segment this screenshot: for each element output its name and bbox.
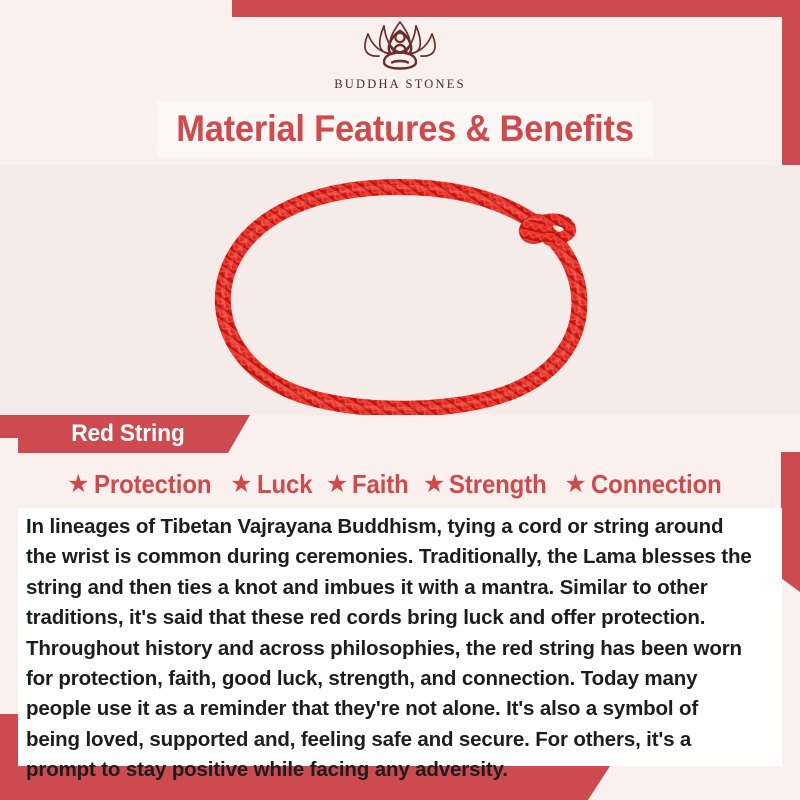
material-ribbon: Red String (18, 415, 250, 453)
brand-logo: BUDDHA STONES (0, 17, 800, 101)
benefits-row: ★ Protection ★ Luck ★ Faith ★ Strength ★… (0, 462, 800, 507)
star-icon: ★ (564, 472, 586, 497)
benefit-item: ★ Protection (67, 469, 221, 500)
star-icon: ★ (230, 472, 252, 497)
brand-wordmark: BUDDHA STONES (334, 77, 466, 92)
benefit-item: ★ Faith (326, 469, 414, 500)
benefit-label: Faith (352, 469, 409, 500)
description-panel: In lineages of Tibetan Vajrayana Buddhis… (18, 508, 782, 766)
hero-band (0, 165, 800, 415)
material-name: Red String (18, 420, 185, 448)
star-icon: ★ (423, 472, 445, 497)
benefit-item: ★ Connection (564, 469, 732, 500)
benefit-item: ★ Strength (423, 469, 556, 500)
product-bracelet-image (0, 165, 800, 415)
benefit-item: ★ Luck (230, 469, 317, 500)
poster-root: BUDDHA STONES Material Features & Benefi… (0, 0, 800, 800)
description-text: In lineages of Tibetan Vajrayana Buddhis… (18, 512, 782, 786)
star-icon: ★ (326, 472, 348, 497)
benefit-label: Protection (94, 469, 211, 500)
star-icon: ★ (67, 472, 89, 497)
benefit-label: Luck (257, 469, 312, 500)
frame-bottom-left-stub (0, 714, 18, 766)
benefit-label: Strength (449, 469, 547, 500)
title-panel: Material Features & Benefits (157, 101, 653, 157)
page-title: Material Features & Benefits (176, 108, 634, 150)
frame-top-bar (232, 0, 800, 17)
benefit-label: Connection (591, 469, 722, 500)
lotus-meditation-icon (344, 17, 456, 75)
